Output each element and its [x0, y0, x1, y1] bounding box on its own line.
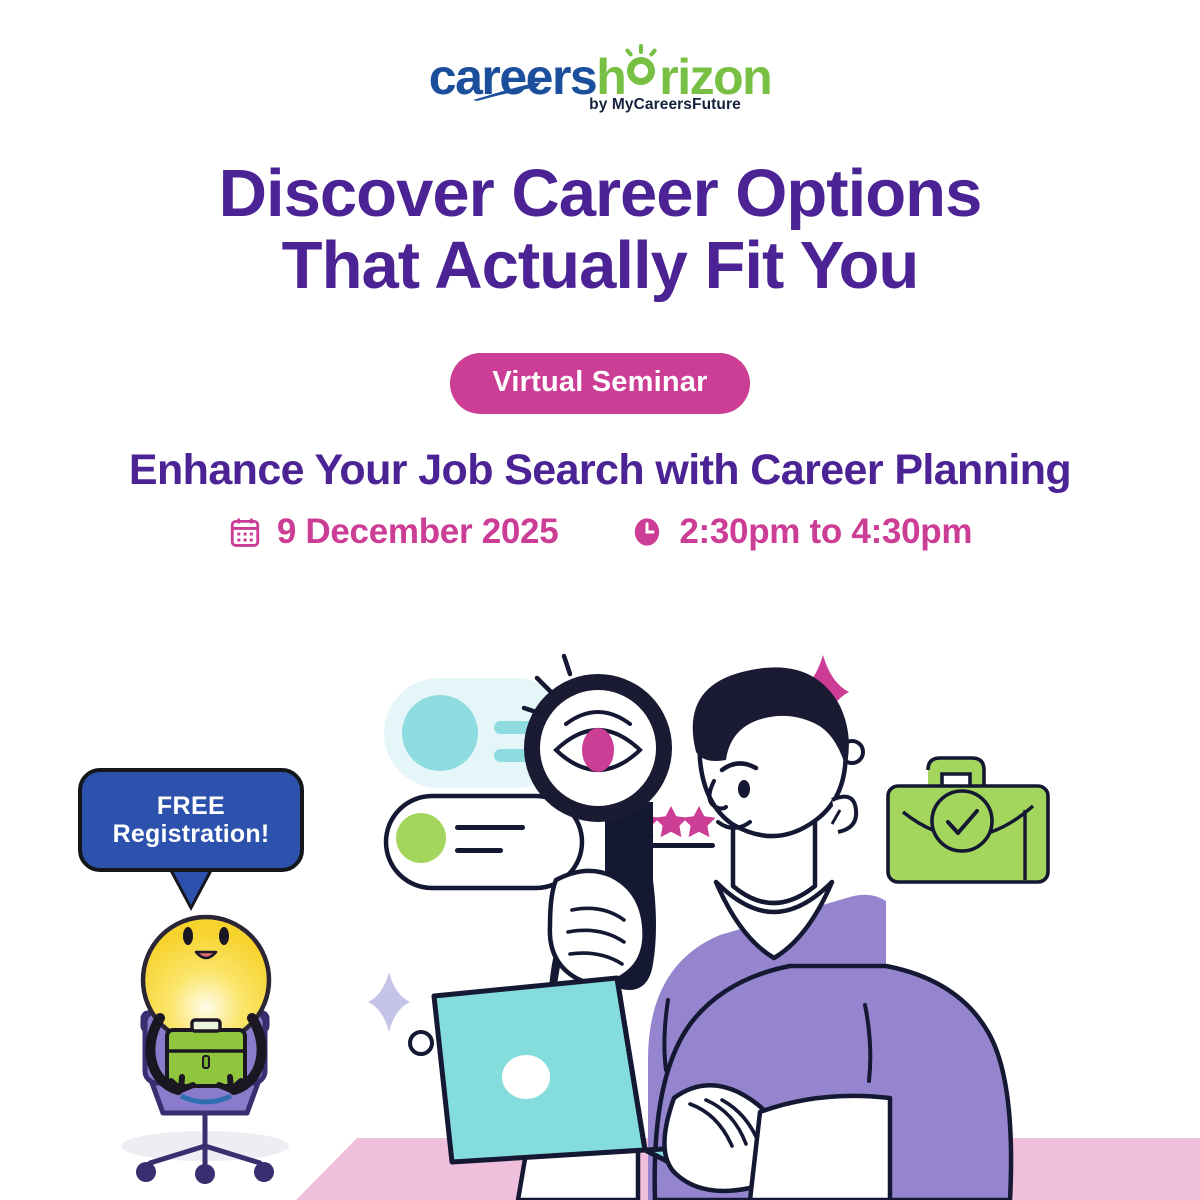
briefcase-held-by-mascot	[167, 1020, 245, 1086]
callout-line-1: FREE	[157, 792, 225, 820]
poster-canvas: careers h rizon by MyCareersFuture Disco…	[0, 0, 1200, 1200]
white-profile-card	[386, 796, 582, 888]
illustration-svg	[0, 0, 1200, 1200]
free-registration-callout: FREE Registration!	[78, 768, 304, 872]
callout-tail	[172, 869, 210, 905]
green-briefcase-with-check	[888, 758, 1048, 882]
illustration	[0, 0, 1200, 1200]
callout-line-2: Registration!	[113, 820, 270, 848]
lavender-sparkle	[368, 972, 410, 1032]
outline-circle-2	[410, 1032, 432, 1054]
